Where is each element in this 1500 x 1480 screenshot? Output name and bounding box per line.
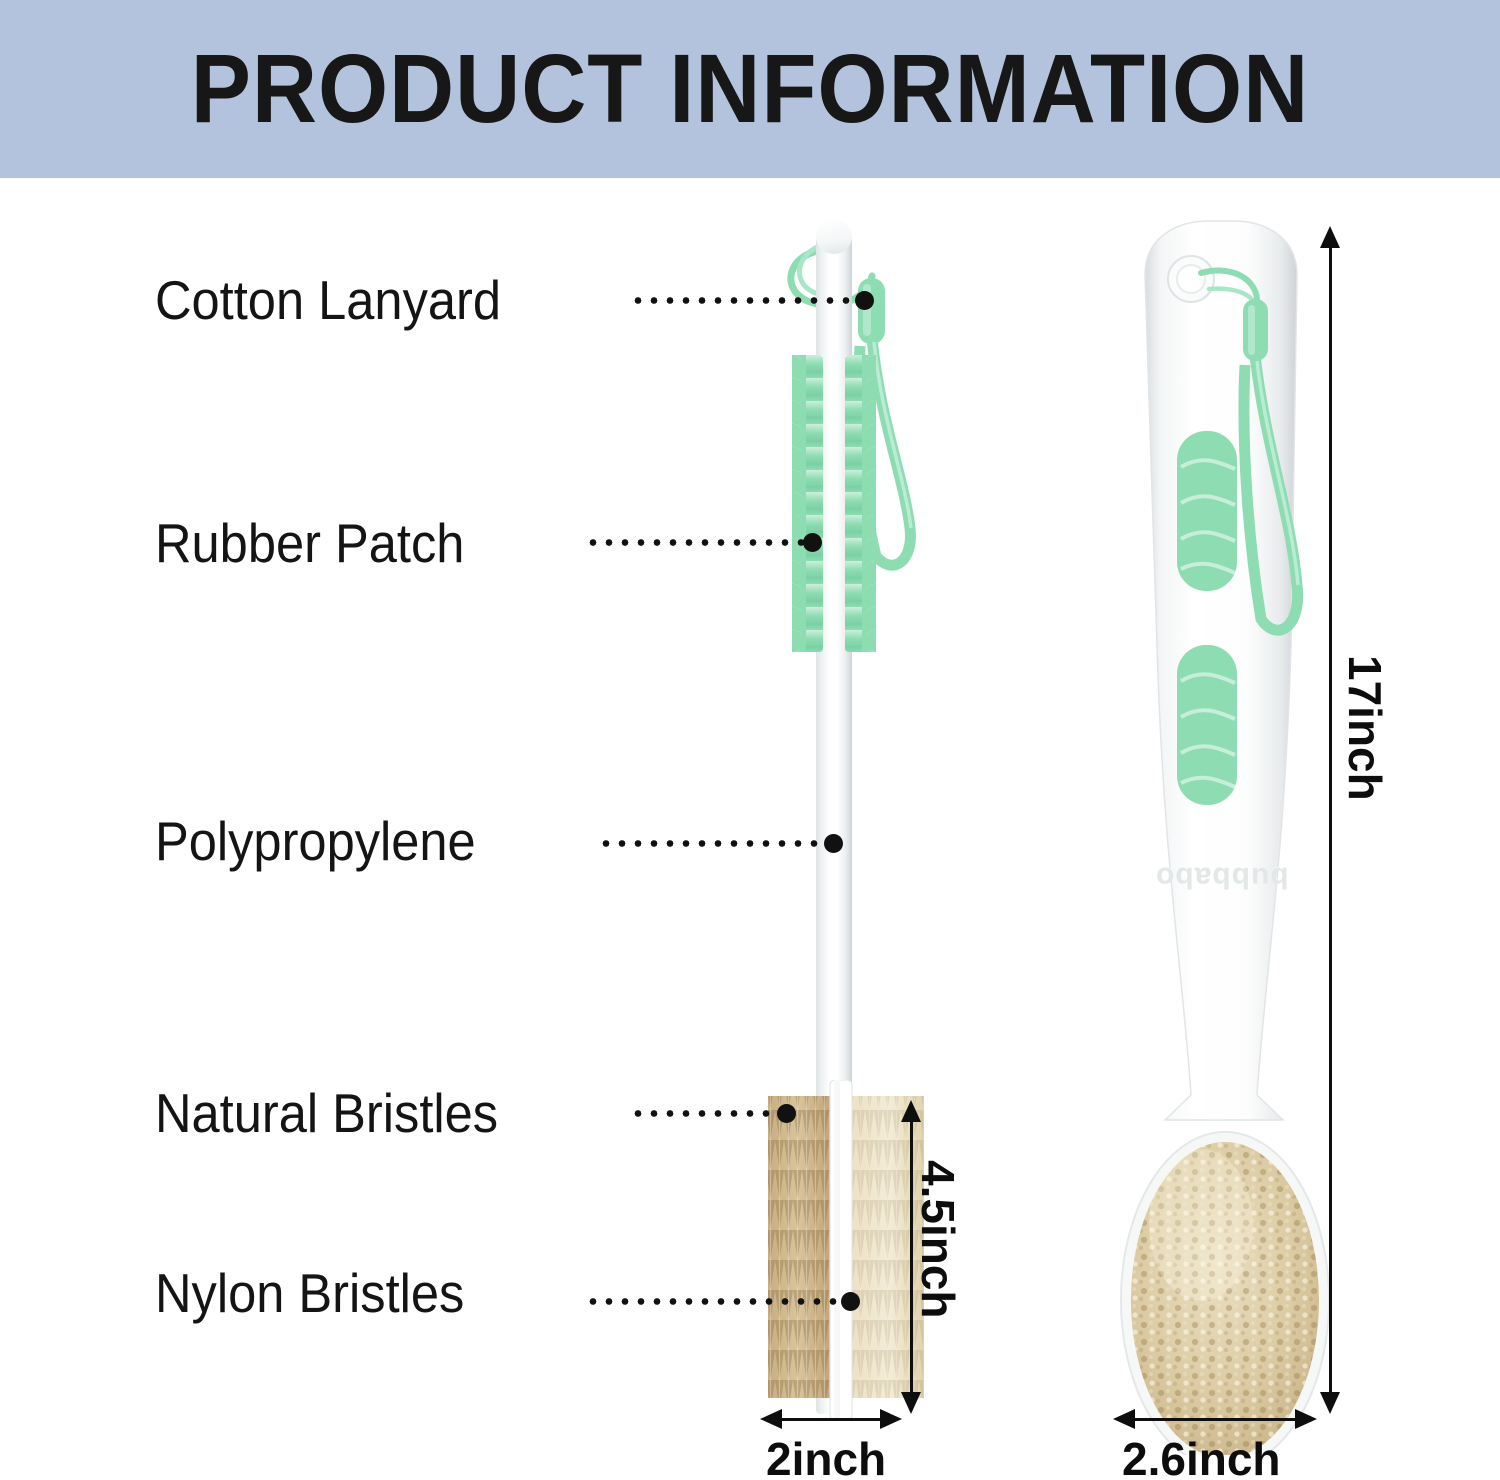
arrow-right-icon [880, 1409, 902, 1429]
callout-polypropylene: Polypropylene [155, 806, 504, 876]
callout-nylon-bristles: Nylon Bristles [155, 1258, 491, 1328]
rubber-grip-patch-lower-right-brush [1177, 645, 1237, 805]
leader-line-natural-bristles [630, 1110, 782, 1117]
rubber-grip-patch-upper-left-brush [793, 355, 875, 515]
brush-body-face-view [1105, 215, 1375, 1455]
dimension-line-vertical [1329, 244, 1332, 1396]
arrow-down-icon [901, 1392, 921, 1414]
callout-rubber-patch: Rubber Patch [155, 508, 491, 578]
arrow-left-icon [1113, 1409, 1135, 1429]
arrow-down-icon [1320, 1392, 1340, 1414]
leader-line-rubber-patch [585, 539, 810, 546]
leader-line-nylon-bristles [585, 1298, 847, 1305]
callout-label-rubber-patch: Rubber Patch [155, 511, 464, 575]
dimension-line-horizontal [1133, 1418, 1303, 1421]
callout-label-nylon-bristles: Nylon Bristles [155, 1261, 464, 1325]
dimension-label-oval-head-width: 2.6inch [1122, 1432, 1281, 1480]
leader-dot-nylon-bristles [841, 1292, 860, 1311]
page-title: PRODUCT INFORMATION [53, 0, 1448, 178]
leader-dot-polypropylene [824, 834, 843, 853]
callout-cotton-lanyard: Cotton Lanyard [155, 265, 531, 335]
rubber-grip-patch-lower-left-brush [793, 492, 875, 652]
rubber-grip-patch-upper-right-brush [1177, 431, 1237, 591]
dimension-label-head-width: 2inch [766, 1432, 886, 1480]
handle-tip-left-brush [816, 220, 852, 254]
dimension-label-total-length: 17inch [1338, 655, 1392, 801]
callout-natural-bristles: Natural Bristles [155, 1078, 528, 1148]
leader-line-polypropylene [598, 840, 830, 847]
dimension-line-horizontal [780, 1418, 888, 1421]
dimension-label-head-height: 4.5inch [911, 1160, 965, 1319]
brush-face-view: bubbabo [1105, 215, 1365, 1455]
callout-label-natural-bristles: Natural Bristles [155, 1081, 498, 1145]
product-information-infographic: PRODUCT INFORMATION [0, 0, 1500, 1480]
leader-line-cotton-lanyard [630, 297, 860, 304]
arrow-right-icon [1295, 1409, 1317, 1429]
leader-dot-rubber-patch [803, 533, 822, 552]
callout-label-polypropylene: Polypropylene [155, 809, 476, 873]
arrow-left-icon [760, 1409, 782, 1429]
callout-label-cotton-lanyard: Cotton Lanyard [155, 268, 501, 332]
leader-dot-natural-bristles [777, 1104, 796, 1123]
leader-dot-cotton-lanyard [855, 291, 874, 310]
brand-logo-text: bubbabo [1155, 860, 1289, 894]
